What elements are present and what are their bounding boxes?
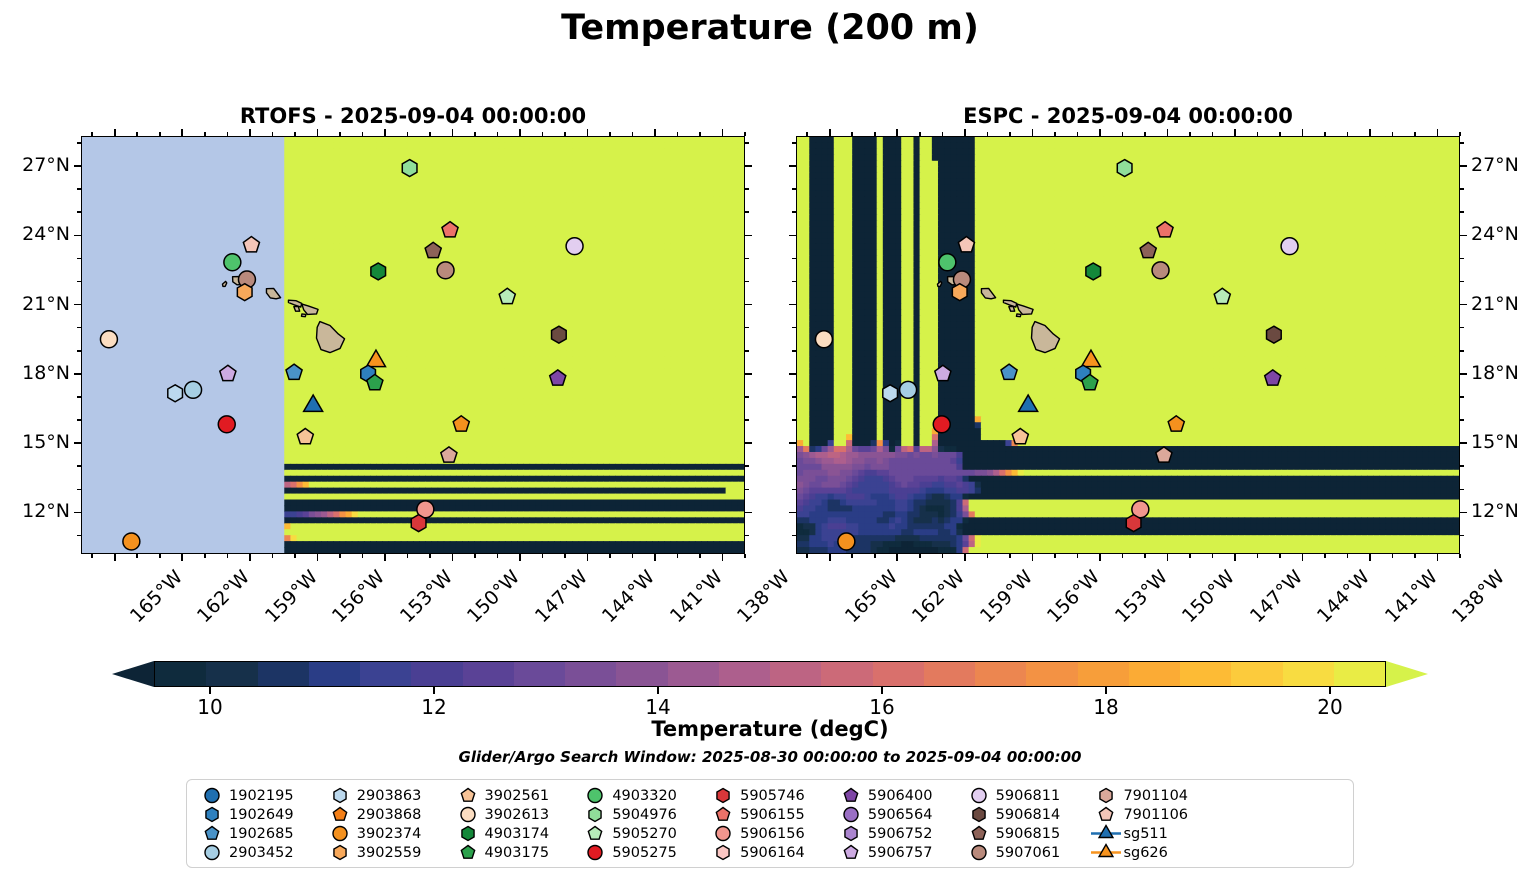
x-tick-label: 165°W: [126, 566, 187, 627]
platform-marker[interactable]: [566, 238, 583, 255]
y-tick: [77, 142, 81, 144]
x-tick-minor-top: [587, 129, 589, 136]
temperature-field: [82, 137, 744, 553]
search-window-note: Glider/Argo Search Window: 2025-08-30 00…: [0, 748, 1540, 766]
y-tick: [74, 235, 81, 237]
legend-label: 3902561: [485, 788, 550, 804]
x-tick-minor: [964, 554, 966, 561]
legend-marker-pentagon-icon: [1089, 805, 1123, 824]
x-tick-minor: [874, 554, 876, 558]
y-tick-right: [1460, 350, 1464, 352]
legend-item-2903452[interactable]: 2903452: [195, 843, 323, 862]
x-tick-minor-top: [1347, 132, 1349, 136]
x-tick-minor-top: [227, 132, 229, 136]
colorbar-tick-label: 18: [1093, 695, 1118, 719]
legend-item-5905746[interactable]: 5905746: [706, 786, 834, 805]
y-tick-right: [745, 442, 752, 444]
legend-label: 1902649: [229, 807, 294, 823]
x-tick-label: 150°W: [1178, 566, 1239, 627]
x-tick-minor: [829, 554, 831, 561]
x-tick-minor: [429, 554, 431, 558]
colorbar-band-22: [1283, 662, 1334, 686]
platform-marker[interactable]: [237, 284, 252, 301]
y-tick: [792, 419, 796, 421]
x-tick-minor-top: [1054, 132, 1056, 136]
y-tick-right: [1460, 142, 1464, 144]
x-tick-minor: [896, 554, 898, 561]
y-tick-right: [745, 465, 749, 467]
x-tick-minor-top: [744, 132, 746, 136]
x-tick-label: 147°W: [531, 566, 592, 627]
x-tick-minor-top: [1144, 132, 1146, 136]
y-tick-right: [1460, 258, 1464, 260]
x-tick-minor-top: [806, 132, 808, 136]
y-tick-label-right: 12°N: [1471, 500, 1540, 522]
panel-title-espc: ESPC - 2025-09-04 00:00:00: [796, 104, 1460, 128]
platform-marker[interactable]: [185, 381, 202, 398]
legend-marker-triangle-line-icon: [1089, 843, 1123, 862]
colorbar-band-14: [873, 662, 924, 686]
x-tick-minor-top: [542, 132, 544, 136]
x-tick-minor: [384, 554, 386, 561]
platform-marker[interactable]: [883, 385, 898, 402]
x-tick-minor-top: [1324, 132, 1326, 136]
legend-label: 5905275: [612, 845, 677, 861]
colorbar-tick: [1105, 687, 1107, 694]
platform-marker[interactable]: [168, 385, 183, 402]
platform-marker[interactable]: [838, 533, 855, 550]
platform-marker[interactable]: [552, 326, 567, 343]
x-tick-minor-top: [519, 129, 521, 136]
legend-label: 5906752: [868, 826, 933, 842]
colorbar-band-5: [411, 662, 462, 686]
x-tick-minor: [204, 554, 206, 558]
y-tick-right: [1460, 465, 1464, 467]
x-tick-minor: [987, 554, 989, 558]
legend-item-5906400[interactable]: 5906400: [834, 786, 962, 805]
x-tick-minor-top: [874, 132, 876, 136]
legend-marker-circle-icon: [962, 786, 996, 805]
legend-item-sg626[interactable]: sg626: [1089, 843, 1217, 862]
legend-item-5906811[interactable]: 5906811: [962, 786, 1090, 805]
y-tick-label-right: 21°N: [1471, 293, 1540, 315]
legend-marker-hexagon-icon: [195, 805, 229, 824]
x-tick-minor-top: [452, 129, 454, 136]
colorbar-band-15: [924, 662, 975, 686]
x-tick-minor-top: [919, 132, 921, 136]
y-tick: [74, 373, 81, 375]
legend-item-5904976[interactable]: 5904976: [578, 805, 706, 824]
colorbar-band-9: [616, 662, 667, 686]
y-tick: [77, 350, 81, 352]
legend-marker-pentagon-icon: [834, 843, 868, 862]
x-tick-minor: [1189, 554, 1191, 558]
y-tick-right: [745, 419, 749, 421]
platform-marker[interactable]: [1267, 326, 1282, 343]
y-tick: [77, 211, 81, 213]
legend-item-5906752[interactable]: 5906752: [834, 824, 962, 843]
y-tick-right: [1460, 535, 1464, 537]
y-tick-right: [745, 235, 752, 237]
legend-label: 4903320: [612, 788, 677, 804]
x-tick-label: 159°W: [261, 566, 322, 627]
x-tick-minor-top: [204, 132, 206, 136]
y-tick-right: [745, 211, 749, 213]
x-tick-minor: [1392, 554, 1394, 558]
legend-item-5905275[interactable]: 5905275: [578, 843, 706, 862]
colorbar-tick-label: 14: [645, 695, 670, 719]
x-tick-minor: [919, 554, 921, 558]
legend-item-2903863[interactable]: 2903863: [323, 786, 451, 805]
x-tick-minor-top: [896, 129, 898, 136]
colorbar-band-0: [155, 662, 206, 686]
legend-item-5906164[interactable]: 5906164: [706, 843, 834, 862]
legend-marker-circle-icon: [195, 843, 229, 862]
legend-item-5907061[interactable]: 5907061: [962, 843, 1090, 862]
x-tick-minor-top: [474, 132, 476, 136]
x-tick-minor: [699, 554, 701, 558]
legend-label: 2903452: [229, 845, 294, 861]
legend-label: 5906811: [996, 788, 1061, 804]
legend-marker-triangle-line-icon: [1089, 824, 1123, 843]
x-tick-minor-top: [1212, 132, 1214, 136]
legend-marker-circle-icon: [706, 824, 740, 843]
x-tick-minor-top: [1234, 129, 1236, 136]
legend-item-3902613[interactable]: 3902613: [451, 805, 579, 824]
x-tick-minor-top: [851, 132, 853, 136]
y-tick-right: [1460, 419, 1464, 421]
y-tick: [77, 188, 81, 190]
legend-label: 5906564: [868, 807, 933, 823]
legend-marker-hexagon-icon: [962, 805, 996, 824]
y-tick-right: [745, 373, 752, 375]
colorbar-band-23: [1334, 662, 1385, 686]
y-tick-right: [745, 327, 749, 329]
legend-item-5906757[interactable]: 5906757: [834, 843, 962, 862]
x-tick-minor: [1347, 554, 1349, 558]
legend-item-5906156[interactable]: 5906156: [706, 824, 834, 843]
platform-marker[interactable]: [815, 331, 832, 348]
colorbar: 101214161820: [112, 661, 1428, 687]
x-tick-minor-top: [1167, 129, 1169, 136]
legend-marker-pentagon-icon: [706, 805, 740, 824]
legend-label: sg511: [1123, 826, 1167, 842]
colorbar-tick: [657, 687, 659, 694]
y-tick-right: [745, 304, 752, 306]
platform-marker[interactable]: [939, 254, 956, 271]
platform-marker[interactable]: [100, 331, 117, 348]
y-tick-right: [745, 396, 749, 398]
legend-label: 7901106: [1123, 807, 1188, 823]
colorbar-title: Temperature (degC): [0, 717, 1540, 741]
legend-item-5906814[interactable]: 5906814: [962, 805, 1090, 824]
y-tick-right: [1460, 165, 1467, 167]
x-tick-minor-top: [1302, 129, 1304, 136]
x-tick-minor: [1122, 554, 1124, 558]
platform-marker[interactable]: [437, 262, 454, 279]
y-tick: [792, 535, 796, 537]
x-tick-minor: [1257, 554, 1259, 558]
x-tick-label: 144°W: [1313, 566, 1374, 627]
x-tick-minor: [677, 554, 679, 558]
y-tick-right: [1460, 373, 1467, 375]
x-tick-minor-top: [181, 129, 183, 136]
x-tick-minor-top: [136, 132, 138, 136]
x-tick-minor-top: [114, 129, 116, 136]
legend-marker-hexagon-icon: [451, 824, 485, 843]
x-tick-minor-top: [384, 129, 386, 136]
map-panel-espc[interactable]: [796, 136, 1460, 554]
x-tick-minor-top: [829, 129, 831, 136]
legend-marker-hexagon-icon: [323, 786, 357, 805]
y-tick-right: [745, 258, 749, 260]
x-tick-minor-top: [159, 132, 161, 136]
legend-label: 2903868: [357, 807, 422, 823]
legend-label: 5906757: [868, 845, 933, 861]
colorbar-band-17: [1026, 662, 1077, 686]
y-tick: [792, 489, 796, 491]
platform-marker[interactable]: [933, 416, 950, 433]
platform-marker[interactable]: [1117, 160, 1132, 177]
y-tick-right: [1460, 188, 1464, 190]
x-tick-minor-top: [1437, 129, 1439, 136]
colorbar-band-16: [975, 662, 1026, 686]
legend-item-sg511[interactable]: sg511: [1089, 824, 1217, 843]
legend-item-5906564[interactable]: 5906564: [834, 805, 962, 824]
legend-item-1902685[interactable]: 1902685: [195, 824, 323, 843]
legend-item-7901106[interactable]: 7901106: [1089, 805, 1217, 824]
legend-label: 4903174: [485, 826, 550, 842]
legend-item-3902561[interactable]: 3902561: [451, 786, 579, 805]
x-tick-minor-top: [1392, 132, 1394, 136]
legend-marker-hexagon-icon: [1089, 786, 1123, 805]
x-tick-minor: [407, 554, 409, 558]
legend-label: 1902195: [229, 788, 294, 804]
x-tick-minor: [1459, 554, 1461, 558]
legend-label: 2903863: [357, 788, 422, 804]
legend-marker-pentagon-icon: [834, 786, 868, 805]
x-tick-minor: [722, 554, 724, 561]
y-tick-label-left: 27°N: [0, 154, 70, 176]
y-tick: [789, 373, 796, 375]
platform-marker[interactable]: [371, 263, 386, 280]
legend-item-1902195[interactable]: 1902195: [195, 786, 323, 805]
x-tick-minor: [632, 554, 634, 558]
legend-label: 5905746: [740, 788, 805, 804]
legend-item-5906155[interactable]: 5906155: [706, 805, 834, 824]
legend-label: 1902685: [229, 826, 294, 842]
legend-marker-hexagon-icon: [834, 824, 868, 843]
legend-item-1902649[interactable]: 1902649: [195, 805, 323, 824]
x-tick-minor: [744, 554, 746, 558]
y-tick: [789, 304, 796, 306]
platform-marker[interactable]: [1152, 262, 1169, 279]
platform-marker[interactable]: [952, 284, 967, 301]
x-tick-minor: [1414, 554, 1416, 558]
x-tick-minor: [587, 554, 589, 561]
legend-marker-pentagon-icon: [323, 805, 357, 824]
legend-marker-pentagon-icon: [962, 824, 996, 843]
legend-marker-hexagon-icon: [706, 843, 740, 862]
y-tick-right: [1460, 211, 1464, 213]
y-tick-right: [1460, 304, 1467, 306]
x-tick-minor: [1212, 554, 1214, 558]
x-tick-minor-top: [407, 132, 409, 136]
legend-item-2903868[interactable]: 2903868: [323, 805, 451, 824]
x-tick-minor: [1234, 554, 1236, 561]
legend-marker-circle-icon: [834, 805, 868, 824]
x-tick-minor-top: [1279, 132, 1281, 136]
y-tick: [792, 465, 796, 467]
x-tick-label: 156°W: [1043, 566, 1104, 627]
legend-marker-circle-icon: [195, 786, 229, 805]
legend-marker-hexagon-icon: [323, 843, 357, 862]
x-tick-minor: [1302, 554, 1304, 561]
x-tick-minor-top: [1369, 129, 1371, 136]
legend-item-3902559[interactable]: 3902559: [323, 843, 451, 862]
colorbar-band-11: [719, 662, 770, 686]
y-tick-label-left: 24°N: [0, 223, 70, 245]
platform-marker[interactable]: [1126, 515, 1141, 532]
x-tick-label: 162°W: [908, 566, 969, 627]
legend-item-4903174[interactable]: 4903174: [451, 824, 579, 843]
y-tick: [789, 442, 796, 444]
legend-label: 5906155: [740, 807, 805, 823]
x-tick-minor: [1437, 554, 1439, 561]
x-tick-minor-top: [1459, 132, 1461, 136]
y-tick: [74, 512, 81, 514]
legend-item-5906815[interactable]: 5906815: [962, 824, 1090, 843]
map-panel-rtofs[interactable]: [81, 136, 745, 554]
y-tick: [789, 512, 796, 514]
x-tick-minor: [851, 554, 853, 558]
y-tick-right: [745, 188, 749, 190]
platform-marker[interactable]: [123, 533, 140, 550]
x-tick-minor-top: [722, 129, 724, 136]
legend-marker-circle-icon: [578, 786, 612, 805]
x-tick-minor: [249, 554, 251, 561]
colorbar-band-3: [309, 662, 360, 686]
x-tick-minor-top: [294, 132, 296, 136]
x-tick-minor-top: [964, 129, 966, 136]
y-tick-right: [1460, 396, 1464, 398]
x-tick-label: 150°W: [463, 566, 524, 627]
x-tick-label: 159°W: [976, 566, 1037, 627]
platform-marker[interactable]: [218, 416, 235, 433]
colorbar-band-13: [821, 662, 872, 686]
colorbar-band-8: [565, 662, 616, 686]
x-tick-minor: [609, 554, 611, 558]
y-tick: [792, 396, 796, 398]
x-tick-label: 147°W: [1246, 566, 1307, 627]
x-tick-minor-top: [497, 132, 499, 136]
legend-marker-pentagon-icon: [195, 824, 229, 843]
x-tick-minor-top: [1414, 132, 1416, 136]
x-tick-minor: [497, 554, 499, 558]
y-tick-right: [1460, 235, 1467, 237]
legend[interactable]: 1902195190264919026852903452290386329038…: [186, 779, 1354, 868]
x-tick-minor-top: [1009, 132, 1011, 136]
legend-marker-circle-icon: [323, 824, 357, 843]
y-tick: [77, 465, 81, 467]
legend-item-4903175[interactable]: 4903175: [451, 843, 579, 862]
colorbar-tick: [881, 687, 883, 694]
colorbar-tick-label: 16: [869, 695, 894, 719]
y-tick-right: [745, 165, 752, 167]
platform-marker[interactable]: [243, 237, 259, 252]
y-tick-right: [1460, 281, 1464, 283]
legend-marker-pentagon-icon: [451, 843, 485, 862]
x-tick-minor: [1032, 554, 1034, 561]
colorbar-band-21: [1231, 662, 1282, 686]
colorbar-body: [154, 661, 1386, 687]
legend-item-3902374[interactable]: 3902374: [323, 824, 451, 843]
x-tick-minor-top: [632, 132, 634, 136]
x-tick-label: 141°W: [666, 566, 727, 627]
x-tick-minor: [1077, 554, 1079, 558]
y-tick: [792, 350, 796, 352]
platform-marker[interactable]: [900, 381, 917, 398]
x-tick-label: 156°W: [328, 566, 389, 627]
x-tick-minor: [1324, 554, 1326, 558]
platform-marker[interactable]: [411, 515, 426, 532]
x-tick-label: 141°W: [1381, 566, 1442, 627]
colorbar-extend-low: [112, 661, 154, 687]
platform-marker[interactable]: [1086, 263, 1101, 280]
x-tick-label: 138°W: [1448, 566, 1509, 627]
colorbar-band-19: [1129, 662, 1180, 686]
platform-marker[interactable]: [1281, 238, 1298, 255]
x-tick-minor: [654, 554, 656, 561]
legend-marker-hexagon-icon: [706, 786, 740, 805]
y-tick: [792, 142, 796, 144]
platform-marker[interactable]: [220, 365, 236, 380]
platform-marker[interactable]: [224, 254, 241, 271]
legend-label: 5904976: [612, 807, 677, 823]
figure: Temperature (200 m) RTOFS - 2025-09-04 0…: [0, 0, 1540, 889]
legend-item-4903320[interactable]: 4903320: [578, 786, 706, 805]
y-tick-label-right: 24°N: [1471, 223, 1540, 245]
colorbar-tick-label: 20: [1317, 695, 1342, 719]
legend-label: 5905270: [612, 826, 677, 842]
y-tick: [792, 281, 796, 283]
x-tick-minor-top: [429, 132, 431, 136]
legend-label: 5906815: [996, 826, 1061, 842]
x-tick-label: 138°W: [733, 566, 794, 627]
y-tick: [74, 442, 81, 444]
x-tick-minor: [452, 554, 454, 561]
y-tick-right: [745, 281, 749, 283]
legend-marker-pentagon-icon: [578, 824, 612, 843]
x-tick-minor: [339, 554, 341, 558]
y-tick: [74, 165, 81, 167]
legend-item-5905270[interactable]: 5905270: [578, 824, 706, 843]
x-tick-minor: [542, 554, 544, 558]
x-tick-minor: [1099, 554, 1101, 561]
platform-marker[interactable]: [402, 160, 417, 177]
legend-item-7901104[interactable]: 7901104: [1089, 786, 1217, 805]
y-tick-right: [1460, 327, 1464, 329]
y-tick-label-right: 27°N: [1471, 154, 1540, 176]
colorbar-band-6: [463, 662, 514, 686]
x-tick-minor-top: [564, 132, 566, 136]
x-tick-minor: [272, 554, 274, 558]
x-tick-minor: [181, 554, 183, 561]
legend-label: 5907061: [996, 845, 1061, 861]
temperature-field: [797, 137, 1459, 553]
y-tick-right: [1460, 489, 1464, 491]
x-tick-minor: [1054, 554, 1056, 558]
